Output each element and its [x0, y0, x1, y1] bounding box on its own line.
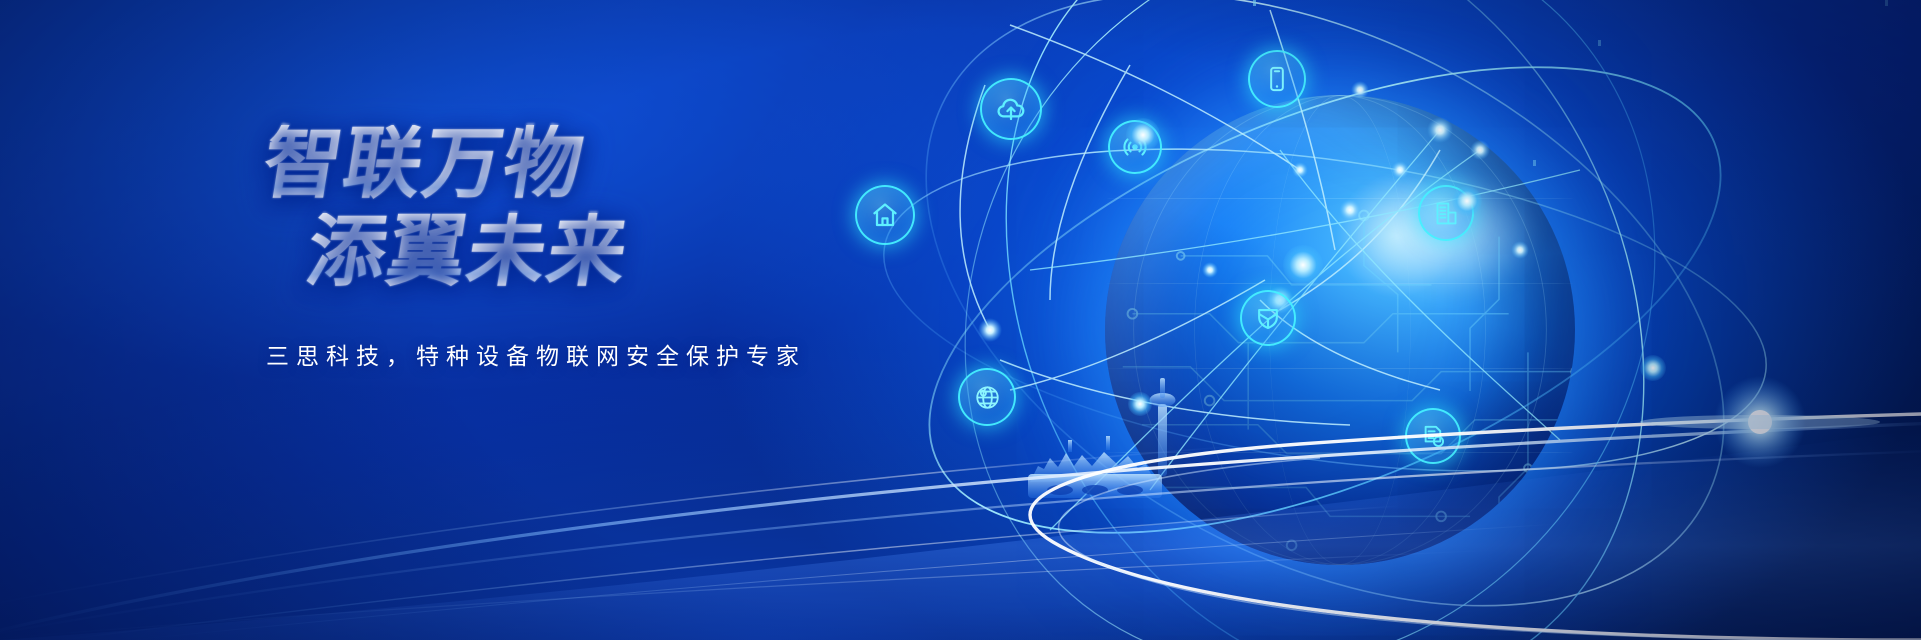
dotted-accent-line	[1598, 40, 1601, 110]
headline-line-1: 智联万物	[258, 125, 1036, 203]
smartphone-icon	[1263, 65, 1291, 93]
node-wifi-signal[interactable]	[1108, 120, 1162, 174]
building-icon	[1433, 200, 1460, 227]
wifi-signal-icon	[1121, 133, 1149, 161]
dotted-accent-line	[1533, 160, 1536, 222]
cloud-upload-icon	[995, 93, 1027, 125]
dotted-accent-line	[1885, 0, 1888, 55]
banner-subtitle: 三思科技，特种设备物联网安全保护专家	[266, 337, 1030, 371]
headline-line-2: 添翼未来	[302, 213, 1036, 291]
node-smartphone[interactable]	[1248, 50, 1306, 108]
banner-copy: 智联万物 添翼未来 三思科技，特种设备物联网安全保护专家	[250, 125, 1030, 371]
hero-banner: 智联万物 添翼未来 三思科技，特种设备物联网安全保护专家	[0, 0, 1921, 640]
node-building[interactable]	[1418, 185, 1474, 241]
